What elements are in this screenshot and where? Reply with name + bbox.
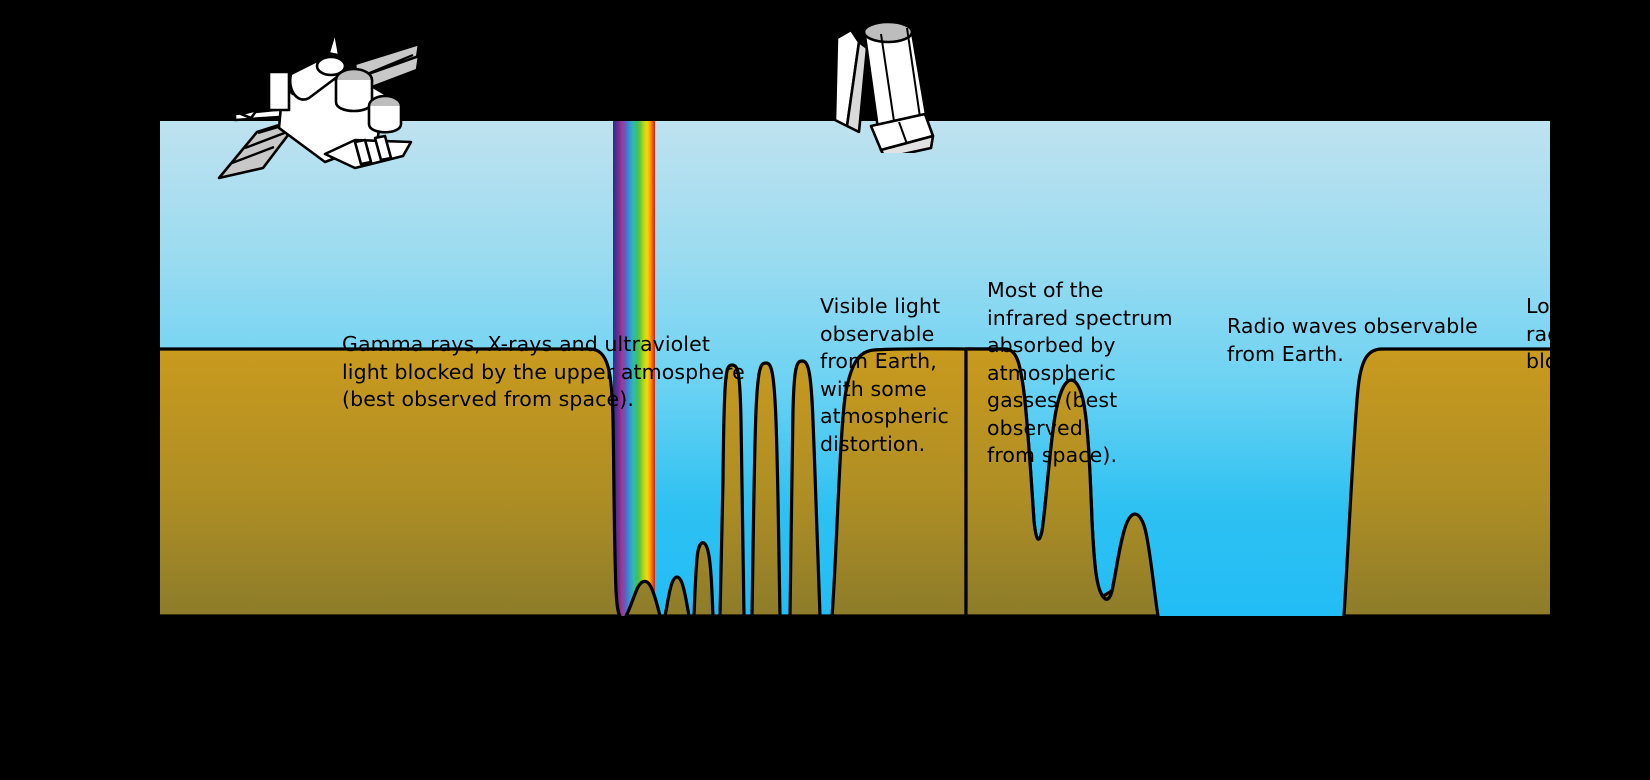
caption-visible-light: Visible light observable from Earth, wit… (820, 293, 960, 458)
caption-long-wavelength-radio: Long-wavelength radio waves blocked. (1526, 293, 1550, 376)
opacity-region-long-radio (1344, 349, 1550, 616)
x-ray-observatory-satellite-icon (205, 22, 435, 197)
caption-infrared: Most of the infrared spectrum absorbed b… (987, 277, 1187, 470)
caption-radio-waves: Radio waves observable from Earth. (1227, 313, 1497, 368)
atmospheric-opacity-figure: Gamma rays, X-rays and ultraviolet light… (0, 0, 1650, 780)
space-telescope-icon (815, 8, 945, 153)
caption-gamma-xray-uv: Gamma rays, X-rays and ultraviolet light… (342, 331, 772, 414)
